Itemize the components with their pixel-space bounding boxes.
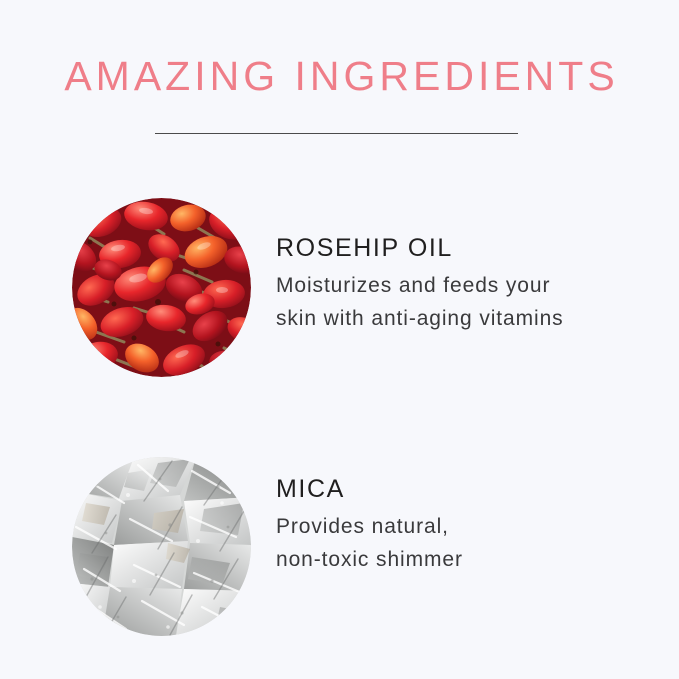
page-header: AMAZING INGREDIENTS [0,52,679,100]
ingredient-description-rosehip-oil: Moisturizes and feeds your skin with ant… [276,269,668,335]
divider-rule [155,133,518,134]
ingredient-description-mica: Provides natural, non-toxic shimmer [276,510,668,576]
rosehip-copy-block: ROSEHIP OIL Moisturizes and feeds your s… [276,233,668,335]
mica-image-circle [72,457,251,636]
mica-mineral-icon [72,457,251,636]
rosehip-image-circle [72,198,251,377]
rosehip-berries-icon [72,198,251,377]
description-line: skin with anti-aging vitamins [276,302,668,335]
ingredients-infographic: AMAZING INGREDIENTS [0,0,679,679]
description-line: non-toxic shimmer [276,543,668,576]
ingredient-row-rosehip-oil: ROSEHIP OIL Moisturizes and feeds your s… [0,198,679,378]
ingredient-row-mica: MICA Provides natural, non-toxic shimmer [0,457,679,637]
title-divider [155,133,518,135]
mica-copy-block: MICA Provides natural, non-toxic shimmer [276,474,668,576]
ingredient-title-mica: MICA [276,474,668,504]
description-line: Provides natural, [276,510,668,543]
ingredient-title-rosehip-oil: ROSEHIP OIL [276,233,668,263]
description-line: Moisturizes and feeds your [276,269,668,302]
page-title: AMAZING INGREDIENTS [0,52,679,100]
